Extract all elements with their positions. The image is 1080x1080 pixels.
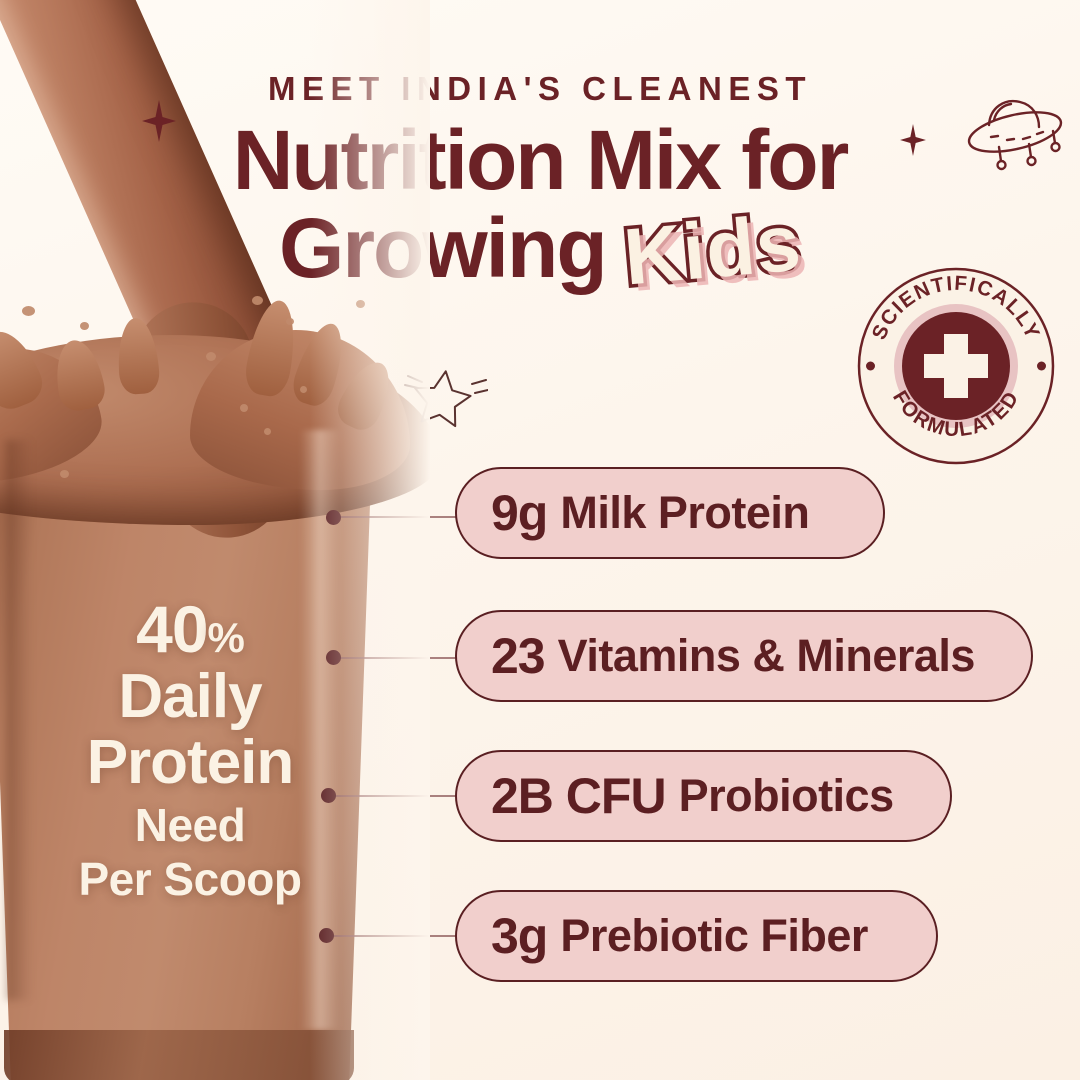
scientifically-formulated-badge: SCIENTIFICALLY FORMULATED (856, 266, 1056, 471)
sparkle-four-point-icon (142, 100, 176, 147)
milk-droplet (80, 322, 89, 330)
daily-protein-callout: 40% Daily Protein Need Per Scoop (0, 596, 380, 902)
benefit-value: 3g (491, 907, 547, 965)
connector-dot (326, 510, 341, 525)
connector-line (333, 935, 460, 937)
benefit-label: Vitamins & Minerals (558, 630, 975, 682)
milk-droplet (264, 428, 271, 435)
protein-percent-value: 40 (136, 592, 207, 666)
headline-growing-word: Growing (279, 201, 606, 295)
milk-droplet (286, 318, 294, 325)
percent-symbol: % (208, 614, 244, 661)
milk-droplet (356, 300, 365, 308)
headline-kids-word: Kids (620, 202, 804, 297)
milk-droplet (60, 470, 69, 478)
connector-dot (319, 928, 334, 943)
milk-droplet (252, 296, 263, 305)
benefit-pill-prebiotic-fiber: 3g Prebiotic Fiber (455, 890, 938, 982)
benefit-label: Probiotics (679, 770, 894, 822)
protein-percent-line: 40% (0, 596, 380, 662)
benefit-pill-probiotics: 2B CFU Probiotics (455, 750, 952, 842)
milk-droplet (240, 404, 248, 412)
benefit-value: 2B CFU (491, 767, 666, 825)
ufo-icon (963, 86, 1067, 187)
shooting-star-icon (396, 358, 488, 435)
callout-line-protein: Protein (0, 732, 380, 794)
benefit-value: 9g (491, 484, 547, 542)
connector-dot (321, 788, 336, 803)
connector-line (340, 516, 460, 518)
product-poster: 40% Daily Protein Need Per Scoop MEET IN… (0, 0, 1080, 1080)
glass-base (4, 1030, 354, 1080)
connector-dot (326, 650, 341, 665)
callout-line-perscoop: Per Scoop (0, 856, 380, 902)
callout-line-daily: Daily (0, 666, 380, 728)
sparkle-four-point-icon (900, 124, 926, 161)
benefit-label: Prebiotic Fiber (560, 910, 868, 962)
benefit-label: Milk Protein (560, 487, 809, 539)
callout-line-need: Need (0, 802, 380, 848)
benefit-value: 23 (491, 627, 545, 685)
milk-droplet (300, 386, 307, 393)
benefit-pill-vitamins-minerals: 23 Vitamins & Minerals (455, 610, 1033, 702)
benefit-pill-milk-protein: 9g Milk Protein (455, 467, 885, 559)
milk-droplet (206, 352, 216, 361)
milk-droplet (22, 306, 35, 316)
